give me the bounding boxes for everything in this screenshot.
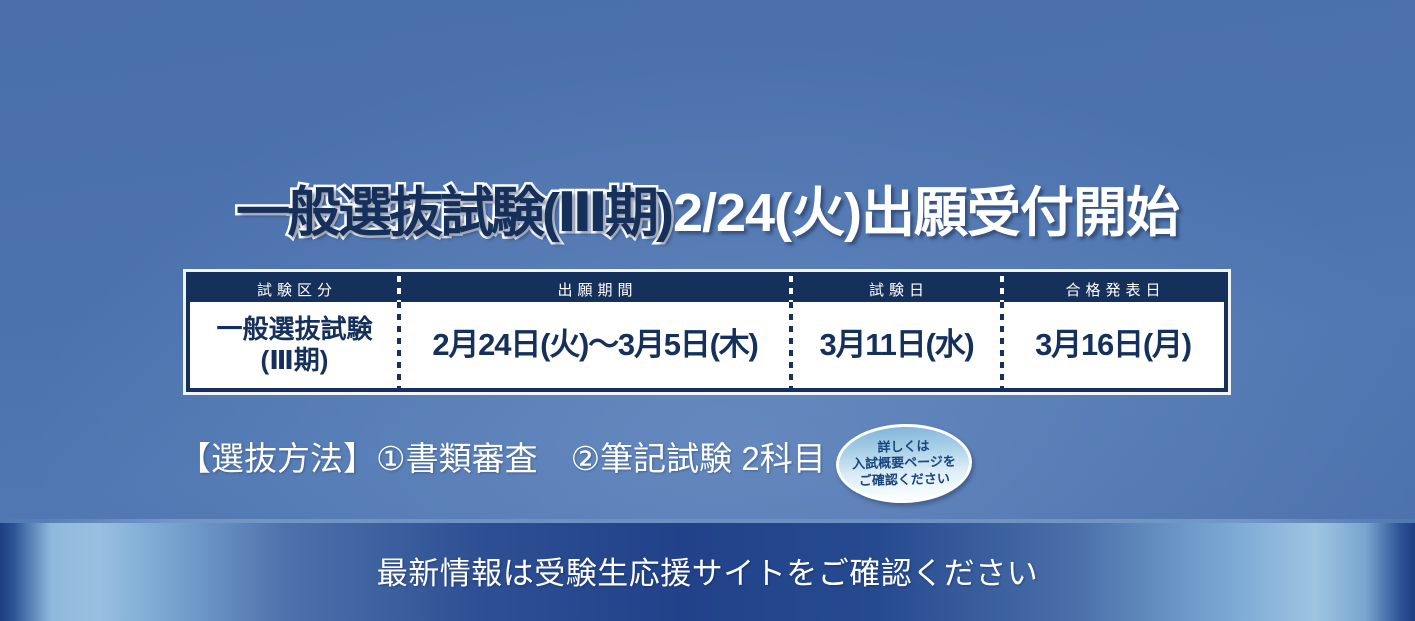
table-cell-result-date: 3月16日(月) [1002,302,1224,388]
table-header-label: 出願期間 [552,279,637,300]
bottom-notice-text: 最新情報は受験生応援サイトをご確認ください [377,548,1039,593]
table-cell-value: 3月11日(水) [819,328,973,363]
table-cell-value: 3月16日(月) [1035,328,1191,363]
table-cell-value: 2月24日(火)〜3月5日(木) [432,328,757,363]
badge-line-1: 詳しくは [877,438,929,456]
badge-line-3: ご確認ください [859,471,950,490]
table-cell-category-line2: (Ⅲ期) [216,345,372,376]
page-title: 一般選抜試験(Ⅲ期)2/24(火)出願受付開始 [0,186,1415,240]
table-cell-category: 一般選抜試験 (Ⅲ期) [190,302,399,388]
promo-banner: 一般選抜試験(Ⅲ期)2/24(火)出願受付開始 試験区分 出願期間 試験日 合格… [0,0,1415,621]
table-header-cell-category: 試験区分 [190,276,399,302]
table-cell-application-period: 2月24日(火)〜3月5日(木) [399,302,791,388]
headline-emphasis: 一般選抜試験(Ⅲ期) [236,183,671,243]
exam-schedule-table: 試験区分 出願期間 試験日 合格発表日 一般選抜試験 (Ⅲ期) 2月24日(火)… [186,272,1228,392]
table-header-row: 試験区分 出願期間 試験日 合格発表日 [190,276,1224,302]
table-cell-category-line1: 一般選抜試験 [216,314,372,345]
bottom-notice-banner: 最新情報は受験生応援サイトをご確認ください [0,519,1415,621]
table-header-label: 試験日 [864,279,929,300]
table-header-cell-exam-date: 試験日 [791,276,1002,302]
table-header-cell-result-date: 合格発表日 [1002,276,1224,302]
details-callout-badge[interactable]: 詳しくは 入試概要ページを ご確認ください [835,422,973,505]
table-header-label: 試験区分 [252,279,337,300]
headline-rest: 2/24(火)出願受付開始 [673,183,1179,243]
table-cell-exam-date: 3月11日(水) [791,302,1002,388]
table-header-cell-application-period: 出願期間 [399,276,791,302]
selection-method-text: 【選抜方法】①書類審査 ②筆記試験 2科目 [178,432,826,480]
table-header-label: 合格発表日 [1060,279,1165,300]
table-row: 一般選抜試験 (Ⅲ期) 2月24日(火)〜3月5日(木) 3月11日(水) 3月… [190,302,1224,388]
